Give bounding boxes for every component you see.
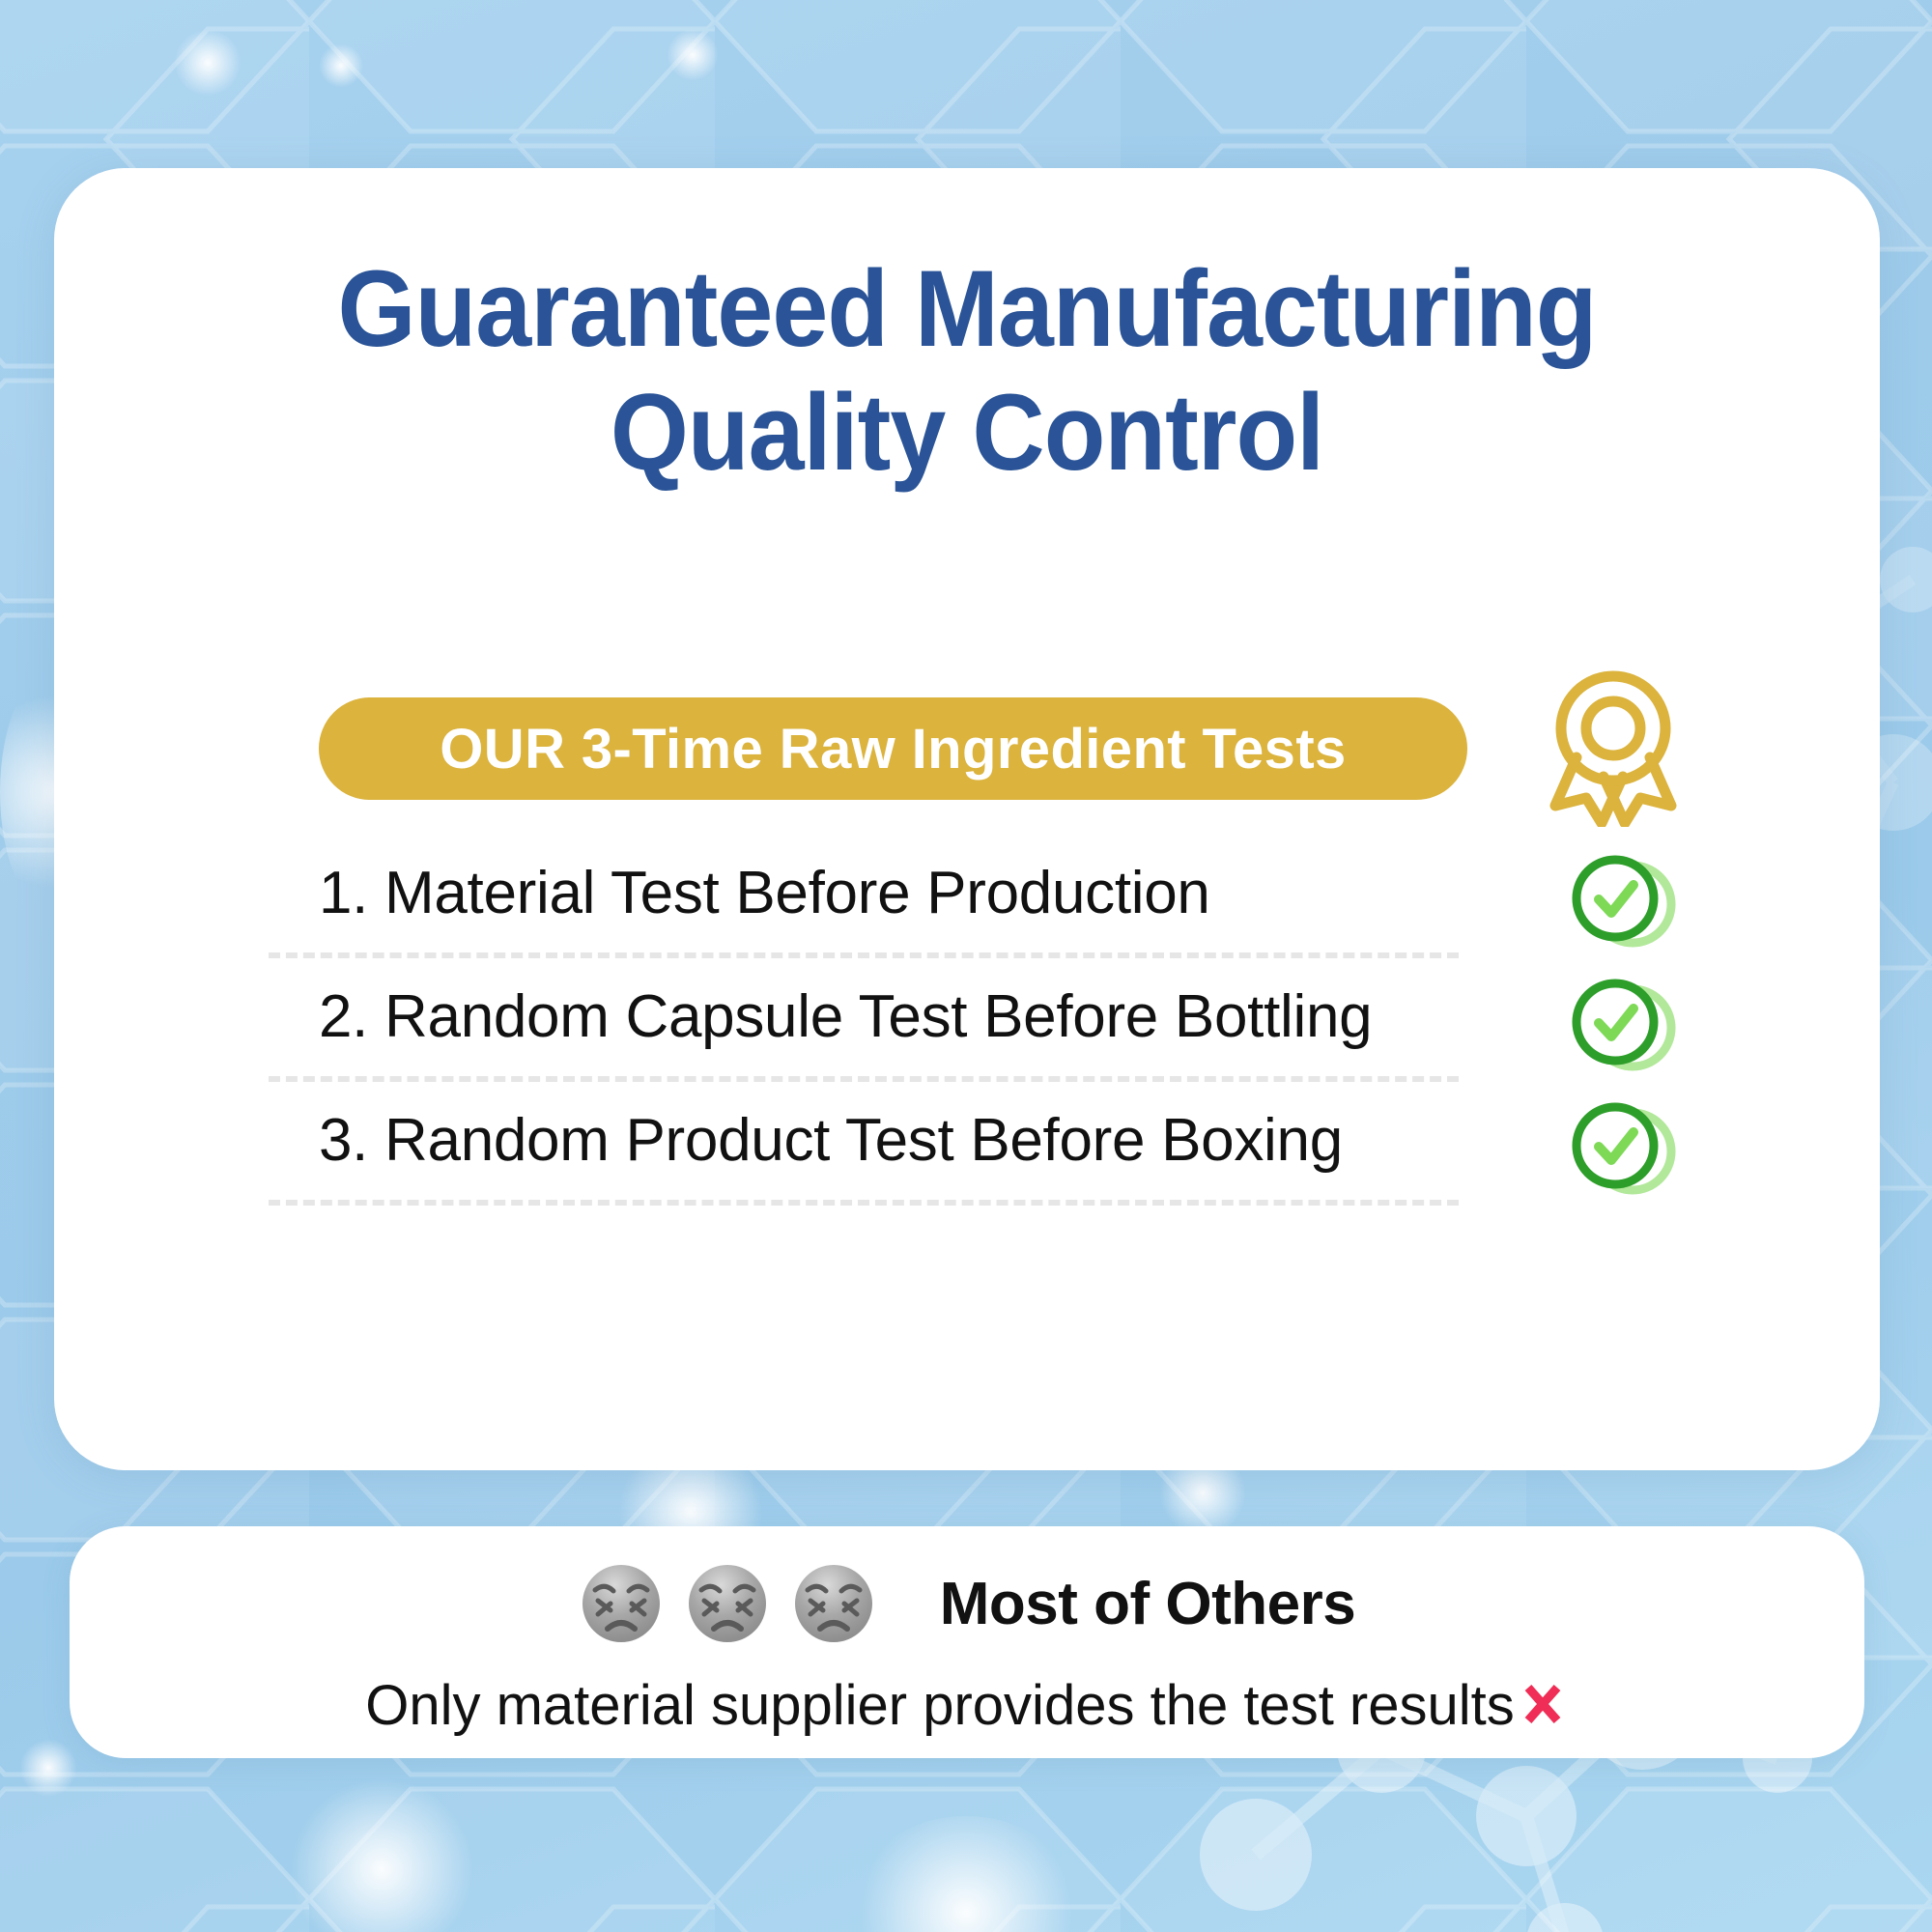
- page-title: Guaranteed Manufacturing Quality Control: [54, 247, 1880, 495]
- confounded-face-icon: [685, 1561, 770, 1646]
- comparison-caption-text: Only material supplier provides the test…: [365, 1674, 1515, 1737]
- test-label: 1. Material Test Before Production: [269, 861, 1210, 926]
- award-medal-icon: [1526, 653, 1700, 827]
- list-divider: [269, 1200, 1459, 1206]
- comparison-card: Most of Others Only material supplier pr…: [70, 1526, 1864, 1758]
- green-check-icon: [1571, 848, 1679, 956]
- tests-banner: OUR 3-Time Raw Ingredient Tests: [319, 697, 1467, 800]
- comparison-caption: Only material supplier provides the test…: [70, 1673, 1864, 1744]
- comparison-label: Most of Others: [940, 1570, 1355, 1638]
- page-title-line-1: Guaranteed Manufacturing: [118, 247, 1816, 371]
- confounded-face-icon: [791, 1561, 876, 1646]
- tests-list: 1. Material Test Before Production 2. Ra…: [269, 835, 1718, 1206]
- list-item: 1. Material Test Before Production: [269, 835, 1718, 952]
- test-label: 3. Random Product Test Before Boxing: [269, 1108, 1343, 1174]
- list-item: 3. Random Product Test Before Boxing: [269, 1082, 1718, 1200]
- page-title-line-2: Quality Control: [118, 371, 1816, 495]
- green-check-icon: [1571, 972, 1679, 1080]
- confounded-face-icon: [579, 1561, 664, 1646]
- test-label: 2. Random Capsule Test Before Bottling: [269, 984, 1372, 1050]
- red-cross-icon: [1517, 1678, 1569, 1744]
- tests-banner-label: OUR 3-Time Raw Ingredient Tests: [440, 717, 1346, 781]
- green-check-icon: [1571, 1095, 1679, 1204]
- main-content-card: Guaranteed Manufacturing Quality Control…: [54, 168, 1880, 1470]
- list-item: 2. Random Capsule Test Before Bottling: [269, 958, 1718, 1076]
- comparison-header: Most of Others: [70, 1561, 1864, 1646]
